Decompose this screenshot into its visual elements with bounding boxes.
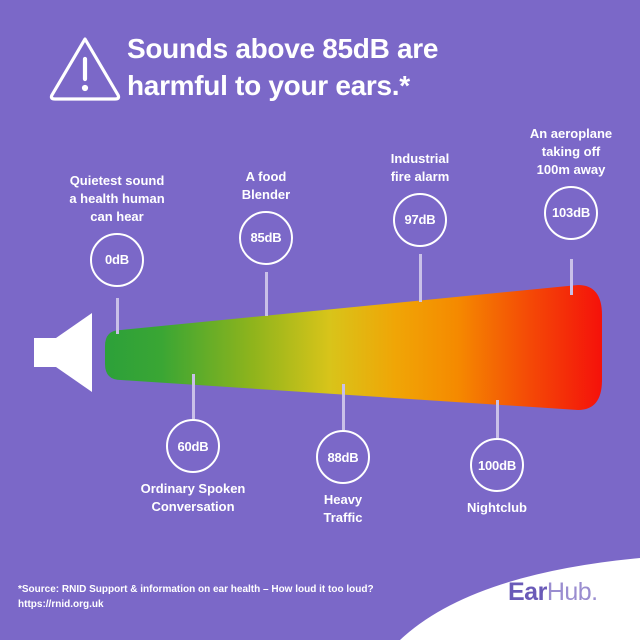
db-bubble[interactable]: 0dB [90, 233, 144, 287]
earhub-logo[interactable]: EarHub. [508, 578, 598, 607]
connector-line [192, 374, 195, 419]
source-line-2: https://rnid.org.uk [18, 598, 418, 613]
callout-label: Quietest sound a health human can hear [32, 172, 202, 226]
title-line-2: harmful to your ears.* [127, 67, 597, 104]
infographic-canvas: Sounds above 85dB are harmful to your ea… [0, 0, 640, 640]
callout-food-blender[interactable]: A food Blender 85dB [201, 168, 331, 265]
db-bubble[interactable]: 85dB [239, 211, 293, 265]
db-value: 103dB [552, 205, 590, 220]
callout-label: Ordinary Spoken Conversation [108, 480, 278, 516]
connector-line [496, 400, 499, 438]
callout-label: Heavy Traffic [278, 491, 408, 527]
callout-spoken-conversation[interactable]: 60dB Ordinary Spoken Conversation [108, 419, 278, 516]
connector-line [116, 298, 119, 334]
logo-text-hub: Hub. [547, 578, 598, 606]
callout-label: Nightclub [432, 499, 562, 517]
page-title: Sounds above 85dB are harmful to your ea… [127, 30, 597, 104]
db-value: 85dB [251, 230, 282, 245]
db-value: 100dB [478, 458, 516, 473]
connector-line [342, 384, 345, 430]
callout-quietest-sound[interactable]: Quietest sound a health human can hear 0… [32, 172, 202, 287]
db-bubble[interactable]: 60dB [166, 419, 220, 473]
header: Sounds above 85dB are harmful to your ea… [0, 0, 640, 120]
callout-aeroplane[interactable]: An aeroplane taking off 100m away 103dB [505, 125, 637, 240]
db-value: 60dB [178, 439, 209, 454]
db-value: 88dB [328, 450, 359, 465]
callout-industrial-fire-alarm[interactable]: Industrial fire alarm 97dB [355, 150, 485, 247]
callout-label: A food Blender [201, 168, 331, 204]
source-note: *Source: RNID Support & information on e… [18, 583, 418, 612]
db-value: 0dB [105, 252, 129, 267]
callout-label: An aeroplane taking off 100m away [505, 125, 637, 179]
logo-text-ear: Ear [508, 578, 547, 606]
connector-line [265, 272, 268, 316]
db-bubble[interactable]: 103dB [544, 186, 598, 240]
db-bubble[interactable]: 100dB [470, 438, 524, 492]
db-value: 97dB [405, 212, 436, 227]
source-line-1: *Source: RNID Support & information on e… [18, 583, 418, 598]
db-bubble[interactable]: 97dB [393, 193, 447, 247]
db-bubble[interactable]: 88dB [316, 430, 370, 484]
speaker-icon [30, 305, 110, 395]
connector-line [570, 259, 573, 295]
callout-heavy-traffic[interactable]: 88dB Heavy Traffic [278, 430, 408, 527]
warning-triangle-icon [48, 33, 122, 103]
connector-line [419, 254, 422, 302]
callout-label: Industrial fire alarm [355, 150, 485, 186]
title-line-1: Sounds above 85dB are [127, 30, 597, 67]
callout-nightclub[interactable]: 100dB Nightclub [432, 438, 562, 517]
